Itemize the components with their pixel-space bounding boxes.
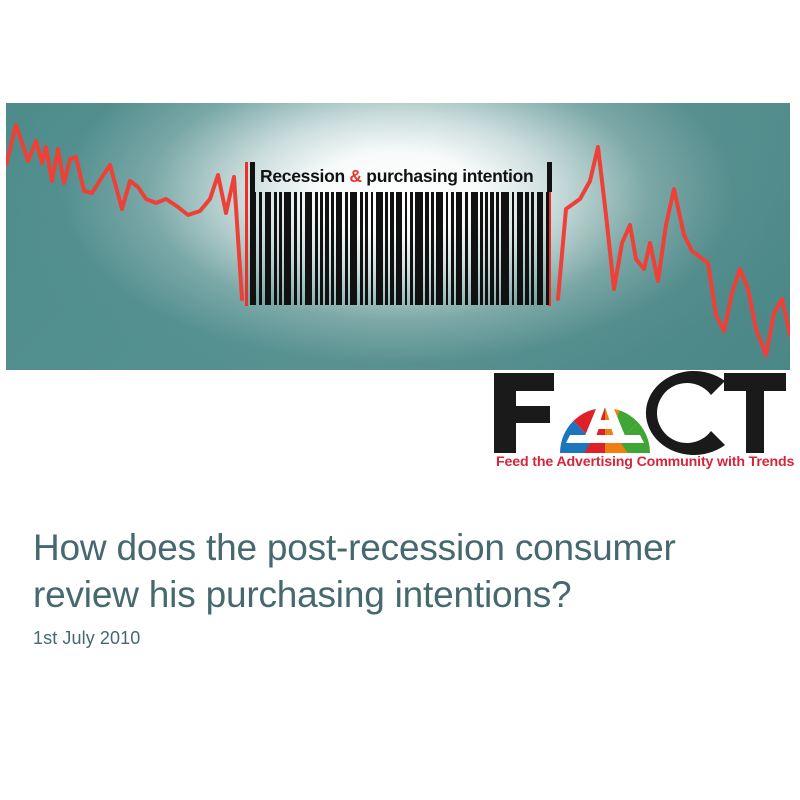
barcode-graphic: Recession & purchasing intention	[245, 162, 557, 306]
fact-logo: Feed the Advertising Community with Tren…	[492, 371, 792, 475]
trend-line-right	[558, 147, 790, 355]
barcode-bar	[305, 192, 313, 305]
barcode-bar	[501, 192, 509, 305]
logo-letter-c	[646, 371, 725, 455]
page-title-line-1: How does the post-recession consumer	[33, 527, 676, 568]
title-banner-image: Recession & purchasing intention	[6, 103, 790, 370]
barcode-title-row: Recession & purchasing intention	[250, 162, 552, 192]
logo-letter-f	[494, 373, 554, 453]
barcode-bar	[471, 192, 478, 305]
logo-letter-a-fan	[552, 371, 658, 455]
barcode-bar	[537, 192, 544, 305]
barcode-endbar-right	[547, 162, 552, 192]
barcode-red-rail-left	[245, 162, 248, 306]
barcode-bars	[250, 192, 552, 305]
barcode-space	[549, 192, 552, 305]
logo-letter-t	[724, 373, 786, 453]
barcode-bar	[265, 192, 272, 305]
barcode-title-post: purchasing intention	[362, 166, 534, 186]
fact-logo-mark	[492, 371, 788, 455]
barcode-bar	[436, 192, 443, 305]
barcode-bar	[284, 192, 291, 305]
barcode-bar	[350, 192, 357, 305]
trend-line-left	[6, 125, 242, 299]
logo-a-base-gap	[566, 435, 644, 443]
barcode-title-pre: Recession	[260, 166, 349, 186]
barcode-title-ampersand: &	[349, 166, 361, 186]
page-title-line-2: review his purchasing intentions?	[33, 574, 571, 615]
barcode-bar	[376, 192, 383, 305]
barcode-bar	[415, 192, 423, 305]
page-title: How does the post-recession consumerrevi…	[33, 524, 753, 619]
barcode-title: Recession & purchasing intention	[255, 168, 538, 186]
slide-date: 1st July 2010	[33, 628, 140, 649]
fact-logo-tagline: Feed the Advertising Community with Tren…	[496, 455, 792, 469]
slide-title-block: How does the post-recession consumerrevi…	[33, 524, 753, 619]
